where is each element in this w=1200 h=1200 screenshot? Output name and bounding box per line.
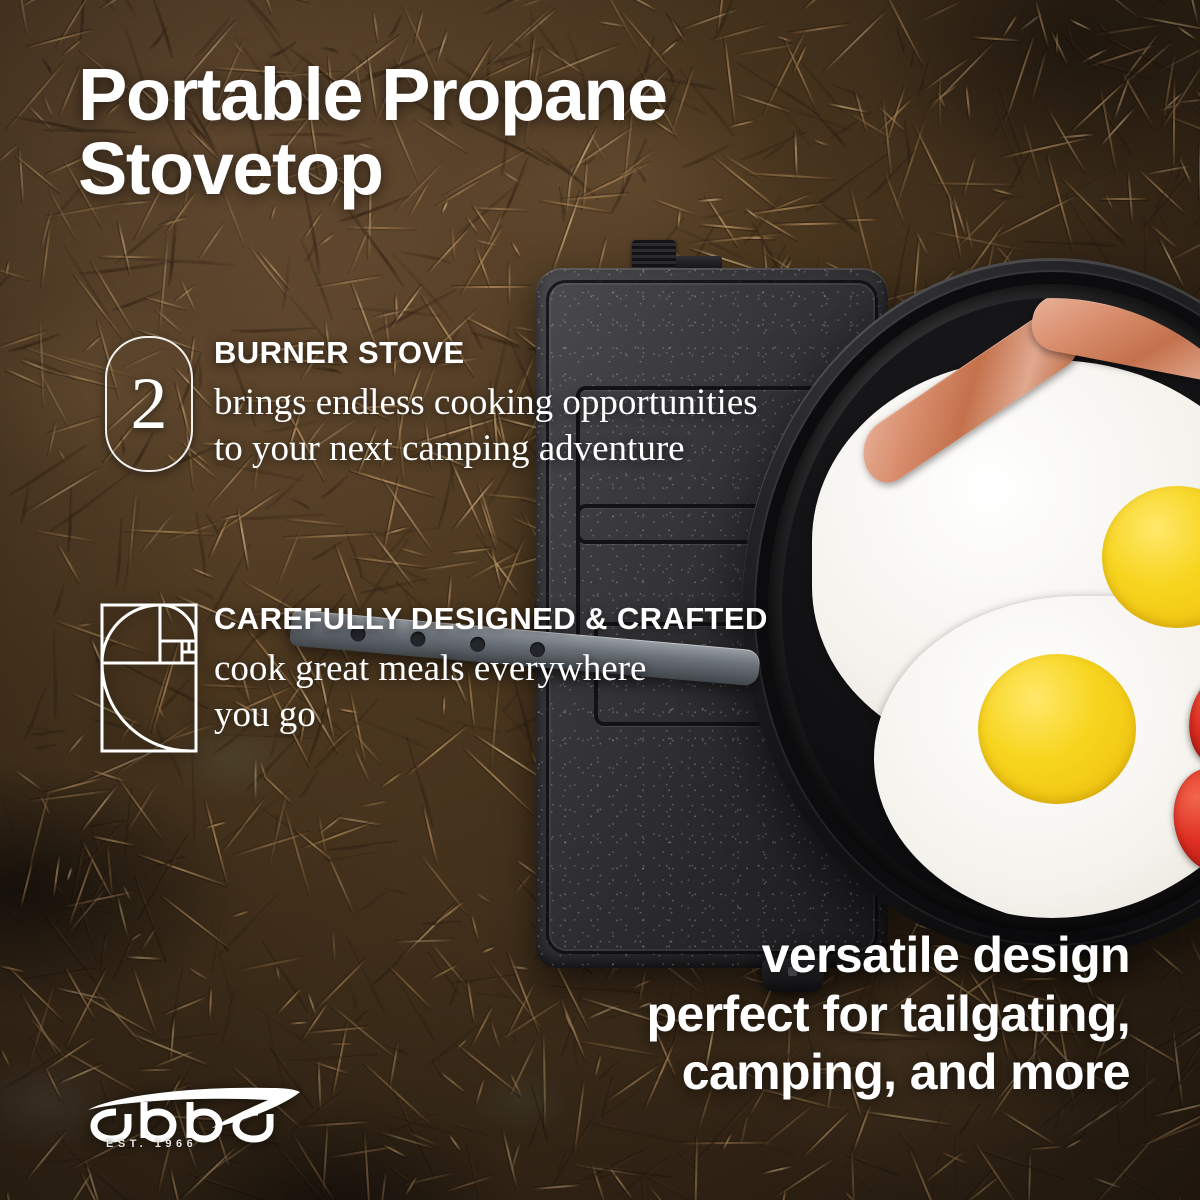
tagline: versatile design perfect for tailgating,… — [647, 926, 1130, 1102]
page-title: Portable Propane Stovetop — [78, 58, 978, 206]
feature-block-designed-crafted: CAREFULLY DESIGNED & CRAFTED cook great … — [96, 602, 768, 754]
logo-established-label: EST. 1966 — [106, 1138, 197, 1150]
badge-number-label: 2 — [131, 367, 168, 441]
headline-line-1: Portable Propane — [78, 58, 978, 132]
brand-logo: EST. 1966 — [72, 1084, 302, 1164]
feature-text-block: CAREFULLY DESIGNED & CRAFTED cook great … — [202, 602, 768, 738]
tagline-line-3: camping, and more — [647, 1043, 1130, 1102]
overlay-content: Portable Propane Stovetop 2 BURNER STOVE… — [0, 0, 1200, 1200]
feature-desc-line-1: brings endless cooking opportunities — [214, 380, 758, 426]
golden-ratio-spiral-icon — [99, 602, 199, 754]
feature-icon-slot: 2 — [96, 336, 202, 472]
abba-wordmark-icon — [72, 1084, 302, 1146]
feature-desc-line-2: you go — [214, 692, 768, 738]
headline-line-2: Stovetop — [78, 132, 978, 206]
feature-title: BURNER STOVE — [214, 336, 758, 370]
feature-icon-slot — [96, 602, 202, 754]
product-infographic: Portable Propane Stovetop 2 BURNER STOVE… — [0, 0, 1200, 1200]
tagline-line-1: versatile design — [647, 926, 1130, 985]
feature-description: cook great meals everywhere you go — [214, 646, 768, 738]
feature-block-burner-stove: 2 BURNER STOVE brings endless cooking op… — [96, 336, 758, 472]
feature-text-block: BURNER STOVE brings endless cooking oppo… — [202, 336, 758, 472]
number-2-badge-icon: 2 — [105, 336, 193, 472]
feature-title: CAREFULLY DESIGNED & CRAFTED — [214, 602, 768, 636]
tagline-line-2: perfect for tailgating, — [647, 985, 1130, 1044]
feature-description: brings endless cooking opportunities to … — [214, 380, 758, 472]
feature-desc-line-2: to your next camping adventure — [214, 426, 758, 472]
feature-desc-line-1: cook great meals everywhere — [214, 646, 768, 692]
